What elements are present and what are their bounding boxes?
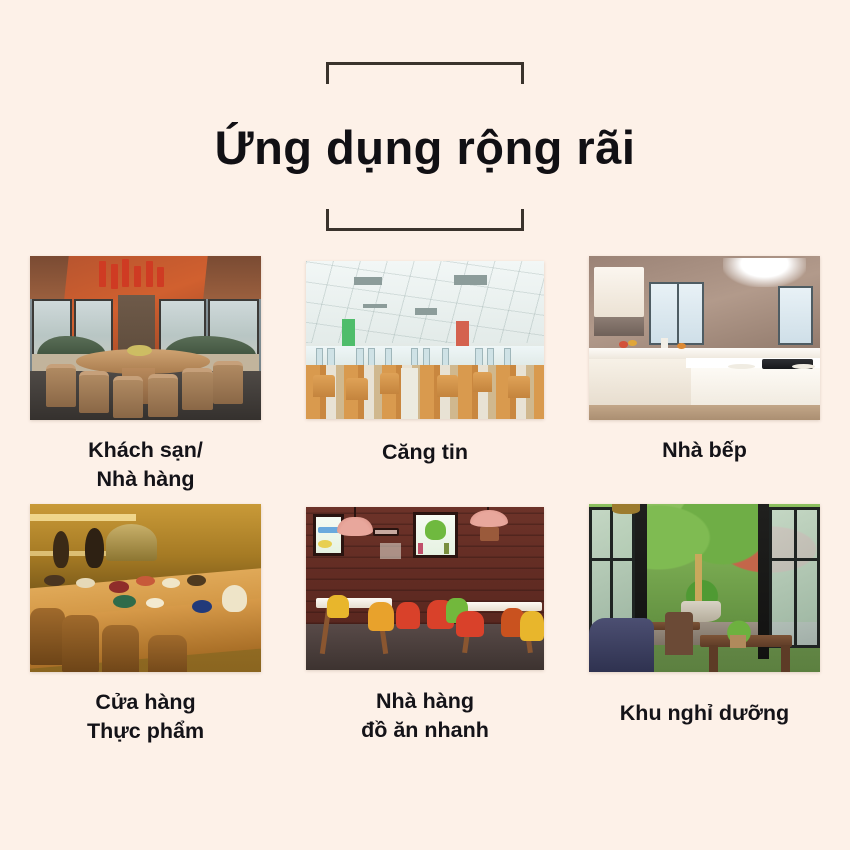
bracket-bottom-decoration	[326, 201, 524, 231]
card-cang-tin[interactable]: Căng tin	[306, 256, 544, 504]
page-header: Ứng dụng rộng rãi	[0, 62, 850, 231]
bracket-bottom-tick-left	[326, 209, 329, 231]
photo-hotel-restaurant	[30, 256, 261, 420]
card-nha-hang-do-an-nhanh[interactable]: Nhà hàng đồ ăn nhanh	[306, 504, 544, 754]
photo-fast-food	[306, 507, 544, 670]
bracket-top-decoration	[326, 62, 524, 92]
card-caption-khu-nghi-duong: Khu nghỉ dưỡng	[589, 672, 820, 728]
grid-row-2: Cửa hàng Thực phẩm	[30, 504, 820, 754]
bracket-bottom-line	[326, 228, 524, 231]
card-khu-nghi-duong[interactable]: Khu nghỉ dưỡng	[589, 504, 820, 754]
photo-kitchen	[589, 256, 820, 420]
photo-canteen	[306, 261, 544, 419]
page-title: Ứng dụng rộng rãi	[0, 92, 850, 201]
card-khach-san-nha-hang[interactable]: Khách sạn/ Nhà hàng	[30, 256, 261, 504]
application-grid: Khách sạn/ Nhà hàng	[30, 256, 820, 754]
card-cua-hang-thuc-pham[interactable]: Cửa hàng Thực phẩm	[30, 504, 261, 754]
card-caption-cang-tin: Căng tin	[306, 419, 544, 467]
bracket-top-line	[326, 62, 524, 65]
grid-row-1: Khách sạn/ Nhà hàng	[30, 256, 820, 504]
photo-food-store	[30, 504, 261, 672]
bracket-bottom-tick-right	[521, 209, 524, 231]
card-caption-nha-hang-do-an-nhanh: Nhà hàng đồ ăn nhanh	[306, 670, 544, 744]
card-caption-nha-bep: Nhà bếp	[589, 420, 820, 465]
card-nha-bep[interactable]: Nhà bếp	[589, 256, 820, 504]
card-caption-khach-san-nha-hang: Khách sạn/ Nhà hàng	[30, 420, 261, 493]
photo-resort	[589, 504, 820, 672]
bracket-top-tick-left	[326, 62, 329, 84]
bracket-top-tick-right	[521, 62, 524, 84]
card-caption-cua-hang-thuc-pham: Cửa hàng Thực phẩm	[30, 672, 261, 745]
